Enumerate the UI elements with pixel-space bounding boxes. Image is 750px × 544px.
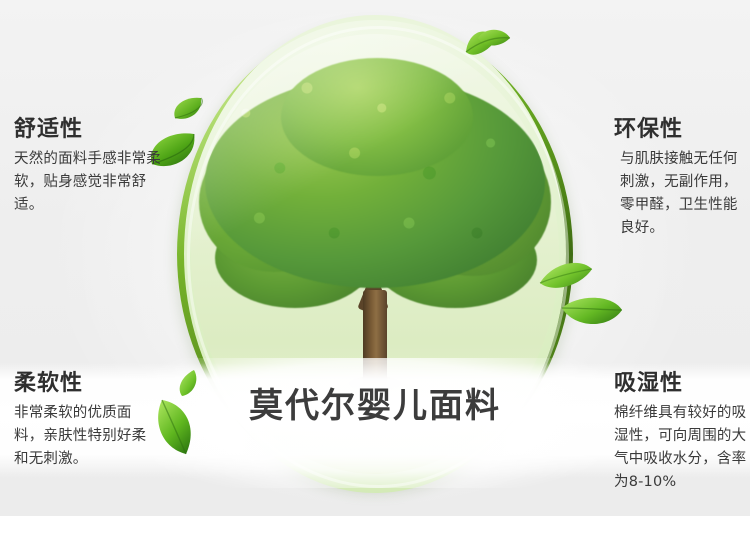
tree-graphic <box>199 58 551 388</box>
feature-block-moisture: 吸湿性 棉纤维具有较好的吸湿性，可向周围的大气中吸收水分，含率为8-10% <box>614 372 750 494</box>
feature-body-comfort: 天然的面料手感非常柔软，贴身感觉非常舒适。 <box>14 148 164 217</box>
leaf-right-lower-icon <box>556 288 638 352</box>
feature-body-eco: 与肌肤接触无任何刺激，无副作用，零甲醛，卫生性能良好。 <box>614 148 750 240</box>
feature-body-softness: 非常柔软的优质面料，亲肤性特别好柔和无刺激。 <box>14 402 160 471</box>
feature-heading-moisture: 吸湿性 <box>614 372 750 396</box>
feature-block-eco: 环保性 与肌肤接触无任何刺激，无副作用，零甲醛，卫生性能良好。 <box>614 118 750 240</box>
feature-heading-softness: 柔软性 <box>14 372 160 396</box>
feature-heading-eco: 环保性 <box>614 118 750 142</box>
feature-block-softness: 柔软性 非常柔软的优质面料，亲肤性特别好柔和无刺激。 <box>14 372 160 471</box>
product-feature-banner: 莫代尔婴儿面料 <box>0 0 750 544</box>
feature-body-moisture: 棉纤维具有较好的吸湿性，可向周围的大气中吸收水分，含率为8-10% <box>614 402 750 494</box>
tree-canopy <box>281 58 473 176</box>
leaf-top-right-icon <box>452 18 522 70</box>
feature-heading-comfort: 舒适性 <box>14 118 164 142</box>
feature-block-comfort: 舒适性 天然的面料手感非常柔软，贴身感觉非常舒适。 <box>14 118 164 217</box>
